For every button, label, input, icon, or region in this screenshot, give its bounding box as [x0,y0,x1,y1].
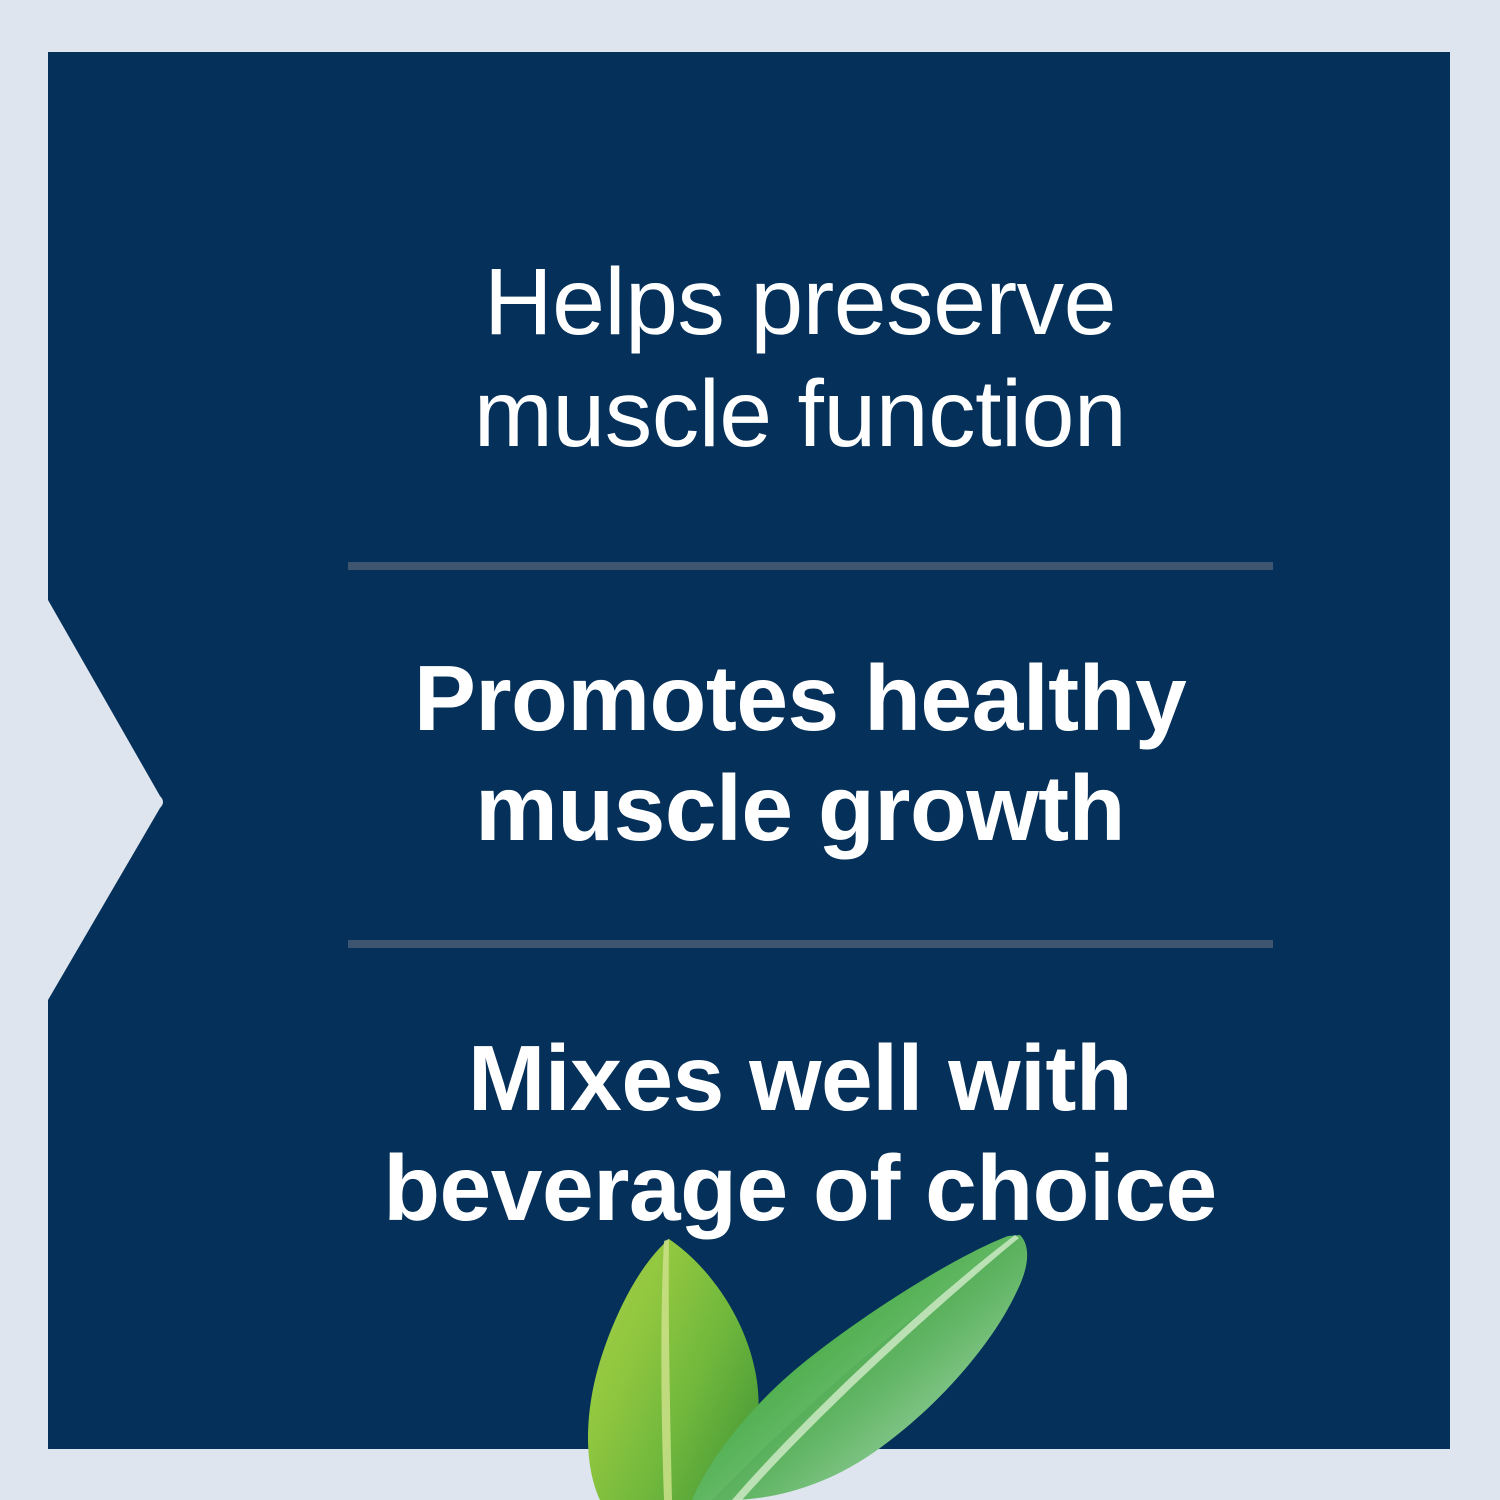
screenshot-stage: Helps preserve muscle function Promotes … [0,0,1500,1500]
benefit-item-preserve-muscle-function: Helps preserve muscle function [300,246,1300,470]
chevron-right-icon [48,600,218,1000]
benefits-list: Helps preserve muscle function Promotes … [300,104,1300,1304]
benefit-line: Promotes healthy [300,644,1300,754]
benefit-line: muscle growth [300,754,1300,864]
benefit-line: Mixes well with [300,1024,1300,1134]
benefit-divider [348,940,1273,948]
benefit-item-mixes-well: Mixes well with beverage of choice [300,1024,1300,1243]
benefit-line: Helps preserve [300,246,1300,358]
benefits-panel: Helps preserve muscle function Promotes … [48,52,1450,1449]
benefit-line: muscle function [300,358,1300,470]
benefit-line: beverage of choice [300,1134,1300,1244]
benefit-divider [348,562,1273,570]
benefit-item-healthy-muscle-growth: Promotes healthy muscle growth [300,644,1300,863]
